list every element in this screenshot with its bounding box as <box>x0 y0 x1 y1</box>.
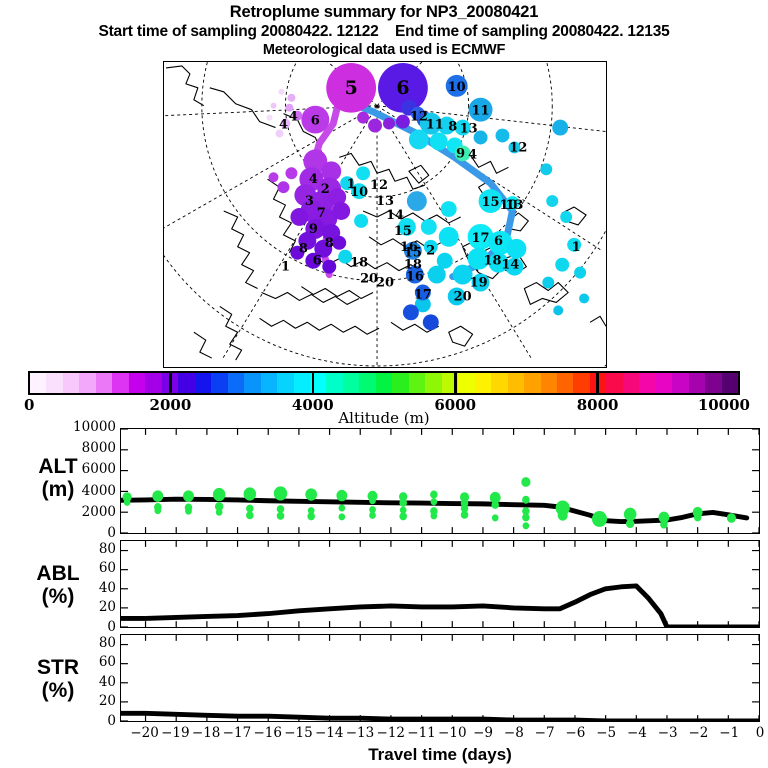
svg-text:4: 4 <box>279 118 288 133</box>
colorbar-swatch <box>129 373 145 393</box>
colorbar-swatch <box>178 373 194 393</box>
y-tick-label: 80 <box>56 637 116 651</box>
scatter-point <box>431 498 438 505</box>
svg-text:4: 4 <box>289 110 298 125</box>
x-tick-label: −12 <box>374 726 408 740</box>
svg-text:9: 9 <box>456 146 465 161</box>
alt-y-ticks: 0200040006000800010000 <box>54 428 116 534</box>
x-tick-marks <box>146 635 759 721</box>
svg-text:7: 7 <box>317 206 326 221</box>
colorbar-swatch <box>244 373 260 393</box>
x-tick-label: −11 <box>405 726 439 740</box>
colorbar-swatch <box>392 373 408 393</box>
x-tick-label: −20 <box>128 726 162 740</box>
scatter-point <box>216 509 223 516</box>
svg-text:9: 9 <box>309 222 318 237</box>
scatter-point <box>521 477 530 487</box>
x-tick-label: −10 <box>435 726 469 740</box>
svg-text:6: 6 <box>311 114 320 129</box>
scatter-point <box>461 511 469 519</box>
colorbar-swatch <box>409 373 425 393</box>
svg-text:8: 8 <box>325 236 334 251</box>
retroplume-map: 5 6 10 11 6 12 11 8 13 9 4 12 4 4 15 10 … <box>163 61 607 368</box>
x-tick-label: −3 <box>651 726 685 740</box>
alt-plot-svg <box>121 429 759 533</box>
svg-text:15: 15 <box>394 224 412 239</box>
colorbar-swatch <box>261 373 277 393</box>
colorbar-swatch <box>326 373 342 393</box>
str-y-ticks: 020406080 <box>54 634 116 722</box>
colorbar-swatch <box>491 373 507 393</box>
svg-text:13: 13 <box>505 198 523 213</box>
scatter-point <box>592 511 607 527</box>
svg-text:11: 11 <box>426 118 444 133</box>
y-tick-label: 6000 <box>56 463 116 477</box>
scatter-point <box>338 513 345 520</box>
svg-text:2: 2 <box>321 182 330 197</box>
colorbar-swatch <box>606 373 622 393</box>
scatter-point <box>491 501 499 509</box>
colorbar-swatch <box>145 373 161 393</box>
scatter-point <box>336 490 347 501</box>
svg-text:14: 14 <box>386 208 404 223</box>
svg-text:4: 4 <box>309 172 318 187</box>
scatter-point <box>369 497 376 504</box>
colorbar-swatch <box>195 373 211 393</box>
x-tick-label: −9 <box>466 726 500 740</box>
colorbar-swatch <box>79 373 95 393</box>
title-block: Retroplume summary for NP3_20080421 Star… <box>0 0 768 59</box>
scatter-point <box>399 499 407 507</box>
scatter-point <box>694 513 702 521</box>
colorbar-swatch <box>722 373 738 393</box>
scatter-point <box>277 505 285 513</box>
colorbar-swatch <box>590 373 606 393</box>
svg-text:20: 20 <box>454 289 472 304</box>
y-tick-label: 40 <box>56 676 116 690</box>
colorbar-swatch <box>162 373 178 393</box>
svg-text:19: 19 <box>470 276 488 291</box>
y-tick-label: 10000 <box>56 421 116 435</box>
scatter-point <box>624 508 637 521</box>
svg-text:2: 2 <box>426 244 435 259</box>
colorbar-swatch <box>458 373 474 393</box>
colorbar-swatch <box>689 373 705 393</box>
svg-text:16: 16 <box>406 270 424 285</box>
svg-text:14: 14 <box>501 258 519 273</box>
colorbar-swatch <box>30 373 46 393</box>
scatter-point <box>369 512 376 519</box>
altitude-colorbar <box>28 371 740 395</box>
x-tick-label: −2 <box>681 726 715 740</box>
svg-text:18: 18 <box>484 254 502 269</box>
svg-text:13: 13 <box>460 122 478 137</box>
colorbar-swatch <box>705 373 721 393</box>
scatter-point <box>727 513 736 523</box>
y-tick-label: 20 <box>56 695 116 709</box>
colorbar-swatch <box>228 373 244 393</box>
x-tick-label: −14 <box>312 726 346 740</box>
y-tick-label: 4000 <box>56 485 116 499</box>
colorbar-swatch <box>557 373 573 393</box>
x-tick-label: 0 <box>743 726 768 740</box>
scatter-point <box>244 487 257 500</box>
y-tick-label: 80 <box>56 543 116 557</box>
svg-text:8: 8 <box>448 120 457 135</box>
colorbar-swatch <box>376 373 392 393</box>
colorbar-swatch <box>508 373 524 393</box>
scatter-point <box>154 507 161 514</box>
colorbar-swatch <box>277 373 293 393</box>
svg-text:13: 13 <box>376 194 394 209</box>
x-tick-label: −15 <box>281 726 315 740</box>
scatter-point <box>492 514 499 521</box>
colorbar-swatch <box>359 373 375 393</box>
y-tick-label: 60 <box>56 656 116 670</box>
x-tick-label: −13 <box>343 726 377 740</box>
y-tick-label: 0 <box>56 715 116 729</box>
svg-text:1: 1 <box>281 260 290 275</box>
x-tick-label: −7 <box>528 726 562 740</box>
x-tick-label: −6 <box>558 726 592 740</box>
colorbar-swatch <box>573 373 589 393</box>
scatter-point <box>152 490 163 501</box>
abl-plot-panel <box>120 540 760 628</box>
scatter-point <box>430 491 438 499</box>
scatter-point <box>399 512 407 520</box>
colorbar-swatch <box>343 373 359 393</box>
map-canvas: 5 6 10 11 6 12 11 8 13 9 4 12 4 4 15 10 … <box>164 62 606 367</box>
x-tick-label: −1 <box>712 726 746 740</box>
colorbar-swatch <box>639 373 655 393</box>
x-tick-label: −16 <box>251 726 285 740</box>
svg-text:15: 15 <box>482 195 500 210</box>
colorbar-swatch <box>211 373 227 393</box>
x-tick-label: −18 <box>189 726 223 740</box>
x-tick-label: −8 <box>497 726 531 740</box>
svg-text:17: 17 <box>472 231 490 246</box>
svg-text:11: 11 <box>472 104 490 119</box>
svg-text:1: 1 <box>572 240 581 255</box>
page-title: Retroplume summary for NP3_20080421 <box>0 2 768 22</box>
scatter-point <box>246 505 254 513</box>
colorbar-swatch <box>294 373 310 393</box>
y-tick-label: 0 <box>56 527 116 541</box>
x-axis-tick-labels: −20−19−18−17−16−15−14−13−12−11−10−9−8−7−… <box>120 726 760 744</box>
str-plot-panel <box>120 634 760 722</box>
y-tick-label: 8000 <box>56 442 116 456</box>
colorbar-swatch <box>541 373 557 393</box>
colorbar-swatch <box>672 373 688 393</box>
scatter-point <box>431 512 438 519</box>
data-line <box>121 713 759 721</box>
scatter-point <box>305 488 317 500</box>
abl-plot-svg <box>121 541 759 627</box>
y-tick-label: 40 <box>56 582 116 596</box>
abl-y-ticks: 020406080 <box>54 540 116 628</box>
alt-plot-panel <box>120 428 760 534</box>
scatter-point <box>124 499 131 506</box>
colorbar-swatch <box>112 373 128 393</box>
svg-text:12: 12 <box>370 178 388 193</box>
data-line <box>121 586 759 627</box>
svg-text:15: 15 <box>404 246 422 261</box>
scatter-point <box>660 521 668 529</box>
svg-text:6: 6 <box>396 77 409 99</box>
colorbar-swatch <box>63 373 79 393</box>
svg-text:10: 10 <box>448 80 466 95</box>
x-axis-title: Travel time (days) <box>120 745 760 765</box>
scatter-point <box>626 519 634 528</box>
colorbar-swatch <box>524 373 540 393</box>
svg-text:6: 6 <box>494 234 503 249</box>
str-plot-svg <box>121 635 759 721</box>
scatter-point <box>183 490 194 501</box>
y-tick-label: 20 <box>56 601 116 615</box>
scatter-point <box>522 513 530 521</box>
x-tick-label: −17 <box>220 726 254 740</box>
colorbar-swatch <box>310 373 326 393</box>
scatter-point <box>185 508 192 515</box>
scatter-point <box>522 496 530 504</box>
colorbar-gradient <box>28 371 740 395</box>
y-tick-label: 0 <box>56 621 116 635</box>
scatter-point <box>523 522 530 529</box>
colorbar-swatch <box>96 373 112 393</box>
colorbar-swatch <box>46 373 62 393</box>
scatter-point <box>277 512 285 520</box>
scatter-point <box>307 512 315 520</box>
svg-text:18: 18 <box>350 256 368 271</box>
svg-text:5: 5 <box>345 77 358 99</box>
svg-text:1: 1 <box>347 177 356 192</box>
svg-text:6: 6 <box>313 254 322 269</box>
sampling-time-line: Start time of sampling 20080422. 12122 E… <box>0 22 768 41</box>
y-tick-marks <box>121 645 759 721</box>
colorbar-swatch <box>425 373 441 393</box>
svg-text:17: 17 <box>414 287 432 302</box>
x-tick-label: −5 <box>589 726 623 740</box>
svg-text:3: 3 <box>305 194 314 209</box>
y-tick-label: 60 <box>56 562 116 576</box>
colorbar-swatch <box>442 373 458 393</box>
scatter-point <box>338 505 345 512</box>
svg-text:8: 8 <box>299 242 308 257</box>
scatter-point <box>213 488 226 501</box>
scatter-point <box>274 486 287 500</box>
svg-text:20: 20 <box>376 276 394 291</box>
meteorological-data-line: Meteorological data used is ECMWF <box>0 41 768 59</box>
x-tick-label: −19 <box>158 726 192 740</box>
scatter-point <box>246 511 254 519</box>
x-tick-label: −4 <box>620 726 654 740</box>
colorbar-swatch <box>623 373 639 393</box>
colorbar-swatch <box>475 373 491 393</box>
colorbar-swatch <box>656 373 672 393</box>
scatter-point <box>558 510 568 521</box>
svg-text:4: 4 <box>468 147 477 162</box>
y-tick-label: 2000 <box>56 506 116 520</box>
svg-text:12: 12 <box>509 140 527 155</box>
